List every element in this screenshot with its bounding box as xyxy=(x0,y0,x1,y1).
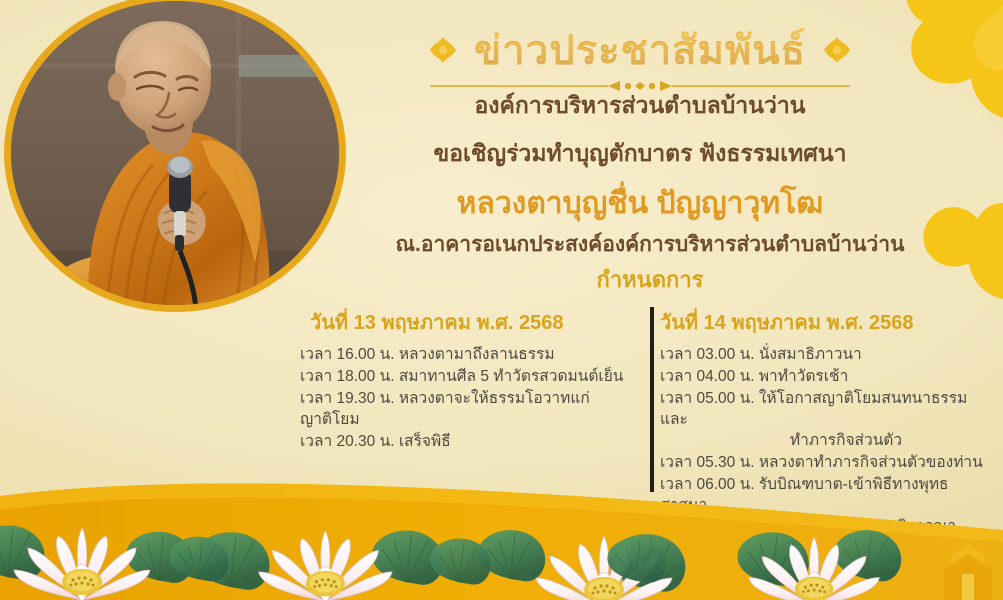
invitation-line: ขอเชิญร่วมทำบุญตักบาตร ฟังธรรมเทศนา xyxy=(330,136,950,172)
day2-heading: วันที่ 14 พฤษภาคม พ.ศ. 2568 xyxy=(660,306,992,338)
day1-heading: วันที่ 13 พฤษภาคม พ.ศ. 2568 xyxy=(300,306,634,338)
monk-name-line: หลวงตาบุญชื่น ปัญญาวุทโฒ xyxy=(350,180,930,227)
list-item: เวลา 05.00 น. ให้โอกาสญาติโยมสนทนาธรรมแล… xyxy=(660,388,992,451)
day1-items: เวลา 16.00 น. หลวงตามาถึงลานธรรม เวลา 18… xyxy=(300,344,634,452)
list-item: เวลา 20.30 น. เสร็จพิธี xyxy=(300,431,634,452)
list-item: เวลา 16.00 น. หลวงตามาถึงลานธรรม xyxy=(300,344,634,365)
item-main: เวลา 18.00 น. สมาทานศีล 5 ทำวัตรสวดมนต์เ… xyxy=(300,368,623,385)
list-item: เวลา 19.30 น. หลวงตาจะให้ธรรมโอวาทแก่ญาต… xyxy=(300,388,634,430)
item-continuation: ทำภารกิจส่วนตัว xyxy=(660,430,992,451)
announcement-poster: ข่าวประชาสัมพันธ์ องค์การบริหารส่วนตำบลบ… xyxy=(0,0,1003,600)
agenda-label: กำหนดการ xyxy=(480,262,820,297)
item-main: เวลา 20.30 น. เสร็จพิธี xyxy=(300,433,451,450)
list-item: เวลา 03.00 น. นั่งสมาธิภาวนา xyxy=(660,344,992,365)
monk-photo-illustration xyxy=(11,1,346,312)
list-item: เวลา 18.00 น. สมาทานศีล 5 ทำวัตรสวดมนต์เ… xyxy=(300,366,634,387)
diamond-flower-right-icon xyxy=(824,37,850,63)
item-main: เวลา 19.30 น. หลวงตาจะให้ธรรมโอวาทแก่ญาต… xyxy=(300,390,590,428)
diamond-flower-left-icon xyxy=(430,37,456,63)
item-main: เวลา 04.00 น. พาทำวัตรเช้า xyxy=(660,368,848,385)
venue-line: ณ.อาคารอเนกประสงค์องค์การบริหารส่วนตำบลบ… xyxy=(330,228,970,261)
item-main: เวลา 03.00 น. นั่งสมาธิภาวนา xyxy=(660,346,862,363)
monk-photo xyxy=(4,0,346,312)
organization-line: องค์การบริหารส่วนตำบลบ้านว่าน xyxy=(370,88,910,124)
title-row: ข่าวประชาสัมพันธ์ xyxy=(370,24,910,76)
page-title: ข่าวประชาสัมพันธ์ xyxy=(474,18,806,82)
list-item: เวลา 04.00 น. พาทำวัตรเช้า xyxy=(660,366,992,387)
item-main: เวลา 05.30 น. หลวงตาทำภารกิจส่วนตัวของท่… xyxy=(660,454,983,471)
item-main: เวลา 05.00 น. ให้โอกาสญาติโยมสนทนาธรรมแล… xyxy=(660,390,967,428)
item-main: เวลา 16.00 น. หลวงตามาถึงลานธรรม xyxy=(300,346,555,363)
lotus-footer-band xyxy=(0,470,1003,600)
